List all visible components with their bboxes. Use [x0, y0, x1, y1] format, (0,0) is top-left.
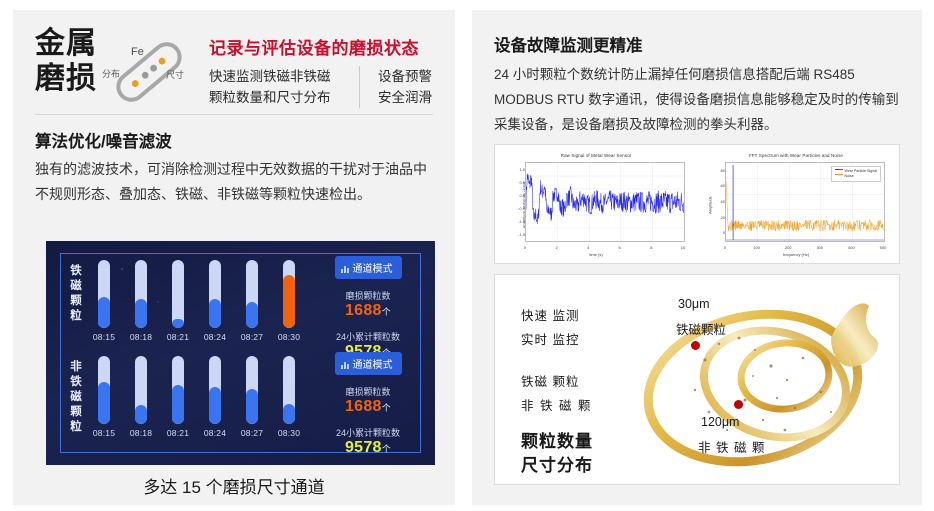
bar-fill	[246, 389, 258, 424]
bar-track	[246, 260, 258, 328]
bar-08-18[interactable]: 08:18	[135, 356, 147, 424]
chart-fft-xlabel: frequency (Hz)	[699, 252, 893, 257]
bar-08-27[interactable]: 08:27	[246, 260, 258, 328]
header-text-block: 记录与评估设备的磨损状态 快速监测铁磁非铁磁 颗粒数量和尺寸分布 设备预警 安全…	[209, 34, 445, 108]
chart-fft-xtick: 400	[848, 245, 855, 250]
bar-track	[209, 356, 221, 424]
annotation-120um: 120μm	[701, 415, 739, 429]
stat-value-wear-count-1: 1688个	[318, 302, 418, 320]
stat-label-wear-count-1: 磨损颗粒数	[318, 289, 418, 302]
chart-fft-xtick: 300	[816, 245, 823, 250]
row-label-nonferromagnetic: 非铁磁颗粒	[68, 360, 84, 435]
brand-line-1: 金属	[35, 26, 97, 61]
bar-track	[172, 260, 184, 328]
bar-time-label: 08:27	[233, 332, 271, 342]
stat-value-24h-count-2: 9578个	[318, 439, 418, 457]
marker-dot-120um	[734, 400, 743, 409]
right-title: 设备故障监测更精准	[494, 32, 643, 56]
channel-mode-button-2[interactable]: 通道模式	[335, 352, 402, 375]
bar-fill	[98, 382, 110, 424]
bars-icon	[341, 264, 350, 273]
annotation-120um-sub: 非 铁 磁 颗	[698, 437, 765, 456]
section-body: 独有的滤波技术，可消除检测过程中无效数据的干扰对于油品中不规则形态、叠加态、铁磁…	[35, 157, 439, 207]
bar-time-label: 08:27	[233, 428, 271, 438]
oil-swirl-illustration	[635, 280, 897, 480]
bar-fill	[283, 275, 295, 328]
chart-raw-ytick: 0.0	[513, 193, 525, 198]
legend-entry-noise: Noise	[835, 174, 878, 179]
header-feature-col-2: 设备预警 安全润滑	[359, 66, 432, 108]
bar-08-15[interactable]: 08:15	[98, 356, 110, 424]
chart-raw-signal: Raw Signal of Metal Wear Sensor Amplitud…	[499, 150, 693, 260]
bar-time-label: 08:30	[270, 332, 308, 342]
wear-dashboard: 铁磁颗粒 08:1508:1808:2108:2408:2708:30 通道模式…	[46, 241, 435, 465]
bar-time-label: 08:18	[122, 332, 160, 342]
chart-raw-svg	[526, 163, 684, 241]
header-feature-3: 设备预警	[378, 66, 432, 87]
bar-fill	[283, 404, 295, 424]
charts-card: Raw Signal of Metal Wear Sensor Amplitud…	[494, 144, 900, 264]
stat-num-4: 9578	[345, 439, 382, 456]
bar-track	[283, 356, 295, 424]
chart-raw-xtick: 6	[619, 245, 621, 250]
chart-raw-ytick: -0.5	[513, 206, 525, 211]
bars-icon	[341, 360, 350, 369]
bar-08-27[interactable]: 08:27	[246, 356, 258, 424]
chart-fft-xtick: 500	[880, 245, 887, 250]
stat-label-wear-count-2: 磨损颗粒数	[318, 385, 418, 398]
chart-raw-xtick: 0	[524, 245, 526, 250]
icon-label-size: 尺寸	[166, 68, 184, 81]
bar-fill	[209, 299, 221, 328]
chart-raw-ytick: 0.5	[513, 180, 525, 185]
chart-fft-ytick: 60	[713, 183, 725, 188]
bar-time-label: 08:24	[196, 428, 234, 438]
legend-swatch-noise	[835, 174, 843, 175]
chart-fft-xtick: 0	[724, 245, 726, 250]
stats-nonferromagnetic: 通道模式 磨损颗粒数 1688个 24小累计颗粒数 9578个	[318, 352, 418, 457]
brand-logo: 金属 磨损	[35, 26, 97, 96]
legend-swatch-wear	[835, 169, 843, 170]
illustration-card: 快速 监测 实时 监控 铁磁 颗粒 非 铁 磁 颗 颗粒数量 尺寸分布 30μm…	[494, 274, 900, 485]
header-feature-col-1: 快速监测铁磁非铁磁 颗粒数量和尺寸分布	[209, 66, 359, 108]
channel-mode-label-1: 通道模式	[353, 264, 393, 275]
bar-track	[135, 356, 147, 424]
icon-label-fe: Fe	[131, 46, 144, 58]
bar-time-label: 08:15	[85, 428, 123, 438]
header-divider	[35, 114, 433, 115]
bar-track	[209, 260, 221, 328]
header-feature-4: 安全润滑	[378, 87, 432, 108]
chart-fft-ylabel: Amplitude	[707, 196, 712, 214]
header-feature-columns: 快速监测铁磁非铁磁 颗粒数量和尺寸分布 设备预警 安全润滑	[209, 66, 445, 108]
bar-fill	[98, 297, 110, 328]
stat-value-wear-count-2: 1688个	[318, 398, 418, 416]
chart-raw-xtick: 4	[587, 245, 589, 250]
annotation-30um-sub: 铁磁颗粒	[676, 319, 726, 338]
bar-08-21[interactable]: 08:21	[172, 356, 184, 424]
chart-fft-xtick: 100	[753, 245, 760, 250]
illustration-line-1: 快速 监测	[521, 305, 579, 324]
bar-time-label: 08:15	[85, 332, 123, 342]
bar-track	[246, 356, 258, 424]
bar-fill	[172, 385, 184, 424]
chart-raw-ytick: 1.0	[513, 167, 525, 172]
chart-raw-title: Raw Signal of Metal Wear Sensor	[499, 153, 693, 158]
chart-fft-ytick: 0	[713, 230, 725, 235]
chart-fft-spectrum: FFT Spectrum with Wear Particles and Noi…	[699, 150, 893, 260]
bar-time-label: 08:21	[159, 428, 197, 438]
header-feature-2: 颗粒数量和尺寸分布	[209, 87, 359, 108]
channel-mode-label-2: 通道模式	[353, 360, 393, 371]
bar-fill	[209, 387, 221, 424]
section-title: 算法优化/噪音滤波	[35, 128, 172, 152]
bar-track	[172, 356, 184, 424]
bar-chart-ferromagnetic: 08:1508:1808:2108:2408:2708:30	[98, 260, 313, 356]
stat-label-24h-count-2: 24小累计颗粒数	[318, 426, 418, 439]
channel-mode-button-1[interactable]: 通道模式	[335, 256, 402, 279]
brand-line-2: 磨损	[35, 61, 97, 96]
bar-time-label: 08:30	[270, 428, 308, 438]
bar-08-21[interactable]: 08:21	[172, 260, 184, 328]
chart-raw-plot	[525, 162, 685, 242]
bar-fill	[246, 302, 258, 328]
left-panel: 金属 磨损 Fe 分布 尺寸 记录与评估设备的磨损状态	[13, 10, 455, 505]
annotation-30um: 30μm	[678, 297, 710, 311]
chart-fft-legend: Wear Particle Signal Noise	[831, 166, 882, 182]
page-root: 金属 磨损 Fe 分布 尺寸 记录与评估设备的磨损状态	[0, 0, 934, 511]
bar-08-15[interactable]: 08:15	[98, 260, 110, 328]
bar-08-24[interactable]: 08:24	[209, 356, 221, 424]
illustration-line-3: 铁磁 颗粒	[521, 371, 579, 390]
chart-raw-xtick: 8	[650, 245, 652, 250]
chart-raw-ytick: -1.0	[513, 219, 525, 224]
bar-08-30[interactable]: 08:30	[283, 260, 295, 328]
row-label-ferromagnetic: 铁磁颗粒	[68, 264, 84, 324]
chart-fft-plot: Wear Particle Signal Noise	[725, 162, 885, 242]
dashboard-row-ferromagnetic: 铁磁颗粒 08:1508:1808:2108:2408:2708:30 通道模式…	[68, 260, 418, 356]
bar-track	[283, 260, 295, 328]
bar-time-label: 08:21	[159, 332, 197, 342]
stat-unit-4: 个	[382, 444, 391, 454]
illustration-heading-2: 尺寸分布	[521, 451, 593, 476]
chart-raw-xlabel: time (s)	[499, 252, 693, 257]
bar-fill	[135, 405, 147, 424]
header-title: 记录与评估设备的磨损状态	[209, 34, 445, 59]
bar-fill	[135, 299, 147, 328]
bar-chart-nonferromagnetic: 08:1508:1808:2108:2408:2708:30	[98, 356, 313, 452]
illustration-line-4: 非 铁 磁 颗	[521, 395, 592, 414]
chart-fft-ytick: 20	[713, 215, 725, 220]
icon-label-distribution: 分布	[102, 67, 120, 80]
chart-fft-xtick: 200	[785, 245, 792, 250]
marker-dot-30um	[691, 341, 700, 350]
stat-unit-1: 个	[382, 307, 391, 317]
bar-track	[98, 356, 110, 424]
bar-time-label: 08:18	[122, 428, 160, 438]
chart-fft-ytick: 40	[713, 199, 725, 204]
chart-raw-xtick: 2	[555, 245, 557, 250]
chart-fft-title: FFT Spectrum with Wear Particles and Noi…	[699, 153, 893, 158]
stat-num-3: 1688	[345, 398, 382, 415]
chart-fft-ytick: 80	[713, 168, 725, 173]
stats-ferromagnetic: 通道模式 磨损颗粒数 1688个 24小累计颗粒数 9578个	[318, 256, 418, 361]
right-panel: 设备故障监测更精准 24 小时颗粒个数统计防止漏掉任何磨损信息搭配后端 RS48…	[472, 10, 922, 505]
stat-num-1: 1688	[345, 302, 382, 319]
bar-08-18[interactable]: 08:18	[135, 260, 147, 328]
stat-label-24h-count-1: 24小累计颗粒数	[318, 330, 418, 343]
illustration-heading-1: 颗粒数量	[521, 427, 593, 452]
bar-track	[98, 260, 110, 328]
stat-unit-3: 个	[382, 403, 391, 413]
bar-fill	[172, 319, 184, 328]
bar-time-label: 08:24	[196, 332, 234, 342]
illustration-line-2: 实时 监控	[521, 329, 579, 348]
bar-08-24[interactable]: 08:24	[209, 260, 221, 328]
chart-raw-ytick: -1.5	[513, 232, 525, 237]
header-feature-1: 快速监测铁磁非铁磁	[209, 66, 359, 87]
right-body: 24 小时颗粒个数统计防止漏掉任何磨损信息搭配后端 RS485 MODBUS R…	[494, 62, 906, 137]
bar-track	[135, 260, 147, 328]
dashboard-row-nonferromagnetic: 非铁磁颗粒 08:1508:1808:2108:2408:2708:30 通道模…	[68, 356, 418, 452]
bar-08-30[interactable]: 08:30	[283, 356, 295, 424]
chart-raw-xtick: 10	[681, 245, 685, 250]
left-header: 金属 磨损 Fe 分布 尺寸 记录与评估设备的磨损状态	[13, 10, 455, 115]
dashboard-caption: 多达 15 个磨损尺寸通道	[13, 473, 455, 498]
